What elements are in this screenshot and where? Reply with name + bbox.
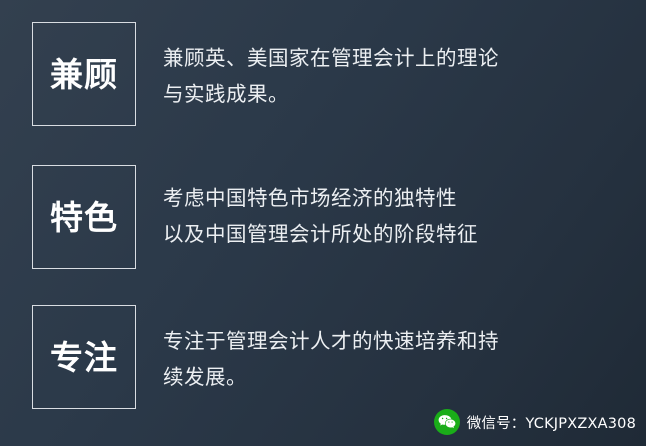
wechat-watermark: 微信号：YCKJPXZXA308 [434, 407, 636, 437]
wechat-id-label: 微信号：YCKJPXZXA308 [467, 412, 636, 433]
content-rows: 兼顾 兼顾英、美国家在管理会计上的理论 与实践成果。 特色 考虑中国特色市场经济… [0, 0, 646, 446]
badge-label-1: 兼顾 [50, 58, 118, 91]
content-row-1: 兼顾 兼顾英、美国家在管理会计上的理论 与实践成果。 [32, 22, 499, 126]
slide-canvas: 兼顾 兼顾英、美国家在管理会计上的理论 与实践成果。 特色 考虑中国特色市场经济… [0, 0, 646, 446]
content-row-2: 特色 考虑中国特色市场经济的独特性 以及中国管理会计所处的阶段特征 [32, 165, 478, 269]
badge-box-1: 兼顾 [32, 22, 136, 126]
content-row-3: 专注 专注于管理会计人才的快速培养和持 续发展。 [32, 305, 499, 409]
badge-label-3: 专注 [50, 341, 118, 374]
wechat-icon [434, 409, 460, 435]
body-text-1: 兼顾英、美国家在管理会计上的理论 与实践成果。 [163, 22, 499, 112]
body-text-3: 专注于管理会计人才的快速培养和持 续发展。 [163, 305, 499, 395]
badge-box-2: 特色 [32, 165, 136, 269]
badge-label-2: 特色 [50, 201, 118, 234]
body-text-2: 考虑中国特色市场经济的独特性 以及中国管理会计所处的阶段特征 [163, 165, 478, 252]
badge-box-3: 专注 [32, 305, 136, 409]
